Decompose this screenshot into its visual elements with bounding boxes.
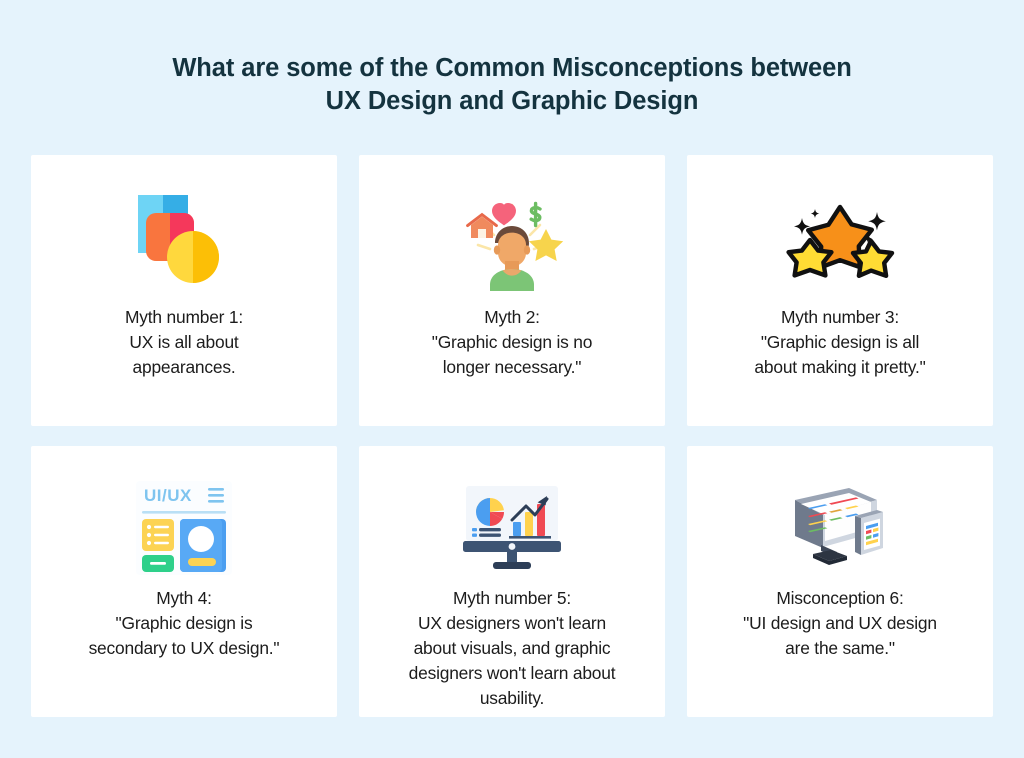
misconception-card-grid: Myth number 1: UX is all about appearanc… — [31, 155, 993, 717]
three-stars-icon — [784, 196, 896, 286]
misconception-card-2: Myth 2: "Graphic design is no longer nec… — [359, 155, 665, 426]
card-1-line-1: Myth number 1: — [49, 305, 319, 330]
card-3-line-3: about making it pretty." — [705, 355, 975, 380]
card-5-line-5: usability. — [377, 686, 647, 711]
card-2-icon-slot — [373, 177, 651, 305]
page-title-line-2: UX Design and Graphic Design — [172, 85, 851, 118]
misconception-card-1: Myth number 1: UX is all about appearanc… — [31, 155, 337, 426]
misconception-card-4: UI/UX — [31, 446, 337, 717]
card-5-line-3: about visuals, and graphic — [377, 636, 647, 661]
card-2-line-3: longer necessary." — [377, 355, 647, 380]
card-3-icon-slot — [701, 177, 979, 305]
desktop-tablet-devices-icon — [787, 484, 893, 570]
card-1-line-2: UX is all about — [49, 330, 319, 355]
card-4-line-1: Myth 4: — [49, 586, 319, 611]
card-4-line-2: "Graphic design is — [49, 611, 319, 636]
misconception-card-3: Myth number 3: "Graphic design is all ab… — [687, 155, 993, 426]
person-with-ideas-icon — [454, 189, 570, 293]
card-3-line-2: "Graphic design is all — [705, 330, 975, 355]
card-6-line-1: Misconception 6: — [705, 586, 975, 611]
analytics-monitor-icon — [463, 484, 561, 570]
card-2-line-2: "Graphic design is no — [377, 330, 647, 355]
card-1-line-3: appearances. — [49, 355, 319, 380]
card-4-icon-slot: UI/UX — [45, 468, 323, 586]
wireframe-title-text: UI/UX — [144, 486, 192, 505]
card-1-icon-slot — [45, 177, 323, 305]
card-6-icon-slot — [701, 468, 979, 586]
infographic-page: What are some of the Common Misconceptio… — [0, 0, 1024, 758]
card-5-icon-slot — [373, 468, 651, 586]
card-5-line-1: Myth number 5: — [377, 586, 647, 611]
card-4-line-3: secondary to UX design." — [49, 636, 319, 661]
card-3-line-1: Myth number 3: — [705, 305, 975, 330]
misconception-card-5: Myth number 5: UX designers won't learn … — [359, 446, 665, 717]
card-6-line-2: "UI design and UX design — [705, 611, 975, 636]
ui-ux-wireframe-icon: UI/UX — [132, 475, 236, 579]
card-6-line-3: are the same." — [705, 636, 975, 661]
misconception-card-6: Misconception 6: "UI design and UX desig… — [687, 446, 993, 717]
hamburger-menu-icon — [208, 488, 224, 503]
card-6-text: Misconception 6: "UI design and UX desig… — [701, 586, 979, 661]
page-title-line-1: What are some of the Common Misconceptio… — [172, 52, 851, 85]
card-2-text: Myth 2: "Graphic design is no longer nec… — [373, 305, 651, 380]
card-1-text: Myth number 1: UX is all about appearanc… — [45, 305, 323, 380]
card-5-line-4: designers won't learn about — [377, 661, 647, 686]
card-2-line-1: Myth 2: — [377, 305, 647, 330]
card-4-text: Myth 4: "Graphic design is secondary to … — [45, 586, 323, 661]
card-5-text: Myth number 5: UX designers won't learn … — [373, 586, 651, 711]
card-3-text: Myth number 3: "Graphic design is all ab… — [701, 305, 979, 380]
page-title: What are some of the Common Misconceptio… — [172, 52, 851, 118]
overlapping-shapes-icon — [132, 191, 236, 291]
page-header: What are some of the Common Misconceptio… — [31, 0, 993, 155]
card-5-line-2: UX designers won't learn — [377, 611, 647, 636]
